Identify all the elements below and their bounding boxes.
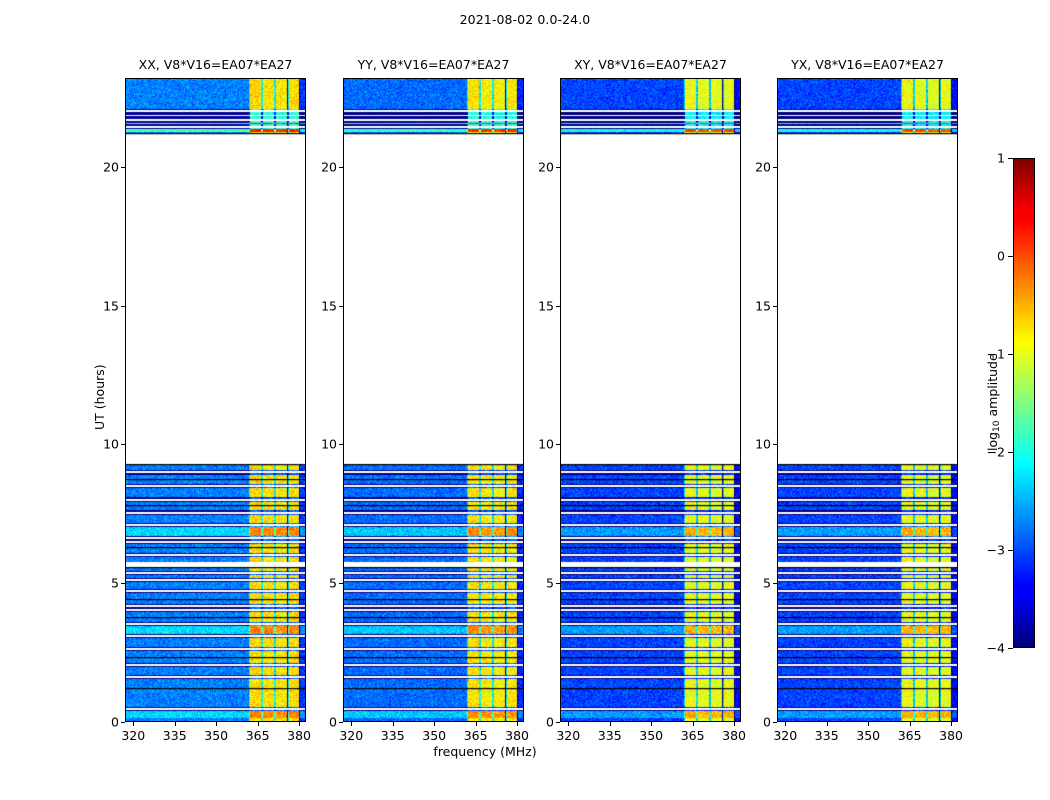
- x-tick-mark: [785, 722, 786, 726]
- y-tick-label: 20: [526, 159, 554, 174]
- x-tick-mark: [133, 722, 134, 726]
- x-tick-mark: [868, 722, 869, 726]
- x-tick-mark: [734, 722, 735, 726]
- y-tick-mark: [556, 722, 560, 723]
- colorbar-tick-mark: [1008, 648, 1013, 649]
- x-tick-label: 350: [422, 728, 446, 743]
- x-tick-label: 380: [287, 728, 311, 743]
- y-tick-label: 5: [91, 576, 119, 591]
- panel-xx-title: XX, V8*V16=EA07*EA27: [139, 57, 293, 72]
- x-tick-label: 335: [381, 728, 405, 743]
- y-tick-label: 15: [743, 298, 771, 313]
- y-tick-label: 5: [309, 576, 337, 591]
- x-tick-label: 380: [939, 728, 963, 743]
- colorbar-label: log10 amplitude: [985, 353, 1002, 451]
- x-tick-mark: [175, 722, 176, 726]
- colorbar-tick-mark: [1008, 354, 1013, 355]
- x-tick-label: 380: [722, 728, 746, 743]
- x-tick-label: 320: [773, 728, 797, 743]
- y-tick-mark: [121, 444, 125, 445]
- y-tick-mark: [121, 167, 125, 168]
- x-tick-mark: [434, 722, 435, 726]
- x-tick-label: 350: [204, 728, 228, 743]
- panel-yy-waterfall: [344, 79, 523, 721]
- x-tick-mark: [476, 722, 477, 726]
- y-tick-label: 10: [526, 437, 554, 452]
- x-tick-label: 320: [556, 728, 580, 743]
- y-tick-mark: [773, 306, 777, 307]
- x-tick-mark: [568, 722, 569, 726]
- panel-xy[interactable]: XY, V8*V16=EA07*EA27: [560, 78, 741, 722]
- y-tick-label: 20: [743, 159, 771, 174]
- x-tick-mark: [351, 722, 352, 726]
- y-tick-mark: [339, 444, 343, 445]
- figure-suptitle: 2021-08-02 0.0-24.0: [0, 12, 1050, 27]
- y-tick-label: 5: [743, 576, 771, 591]
- x-tick-label: 350: [856, 728, 880, 743]
- y-tick-label: 20: [309, 159, 337, 174]
- y-tick-label: 10: [743, 437, 771, 452]
- x-tick-mark: [610, 722, 611, 726]
- x-tick-label: 380: [505, 728, 529, 743]
- colorbar-label-subscript: 10: [992, 420, 1002, 431]
- x-tick-label: 350: [639, 728, 663, 743]
- x-tick-label: 365: [246, 728, 270, 743]
- x-tick-mark: [827, 722, 828, 726]
- colorbar-tick-label: 1: [973, 151, 1005, 166]
- colorbar-tick-mark: [1008, 158, 1013, 159]
- colorbar-tick-mark: [1008, 256, 1013, 257]
- panel-yy-title: YY, V8*V16=EA07*EA27: [358, 57, 510, 72]
- y-tick-label: 15: [309, 298, 337, 313]
- x-tick-label: 335: [163, 728, 187, 743]
- y-tick-label: 10: [309, 437, 337, 452]
- colorbar-label-prefix: log: [985, 432, 1000, 451]
- x-tick-mark: [517, 722, 518, 726]
- colorbar-tick-label: 0: [973, 249, 1005, 264]
- y-tick-label: 0: [743, 715, 771, 730]
- x-tick-mark: [393, 722, 394, 726]
- x-tick-label: 365: [681, 728, 705, 743]
- y-tick-label: 10: [91, 437, 119, 452]
- y-tick-mark: [773, 444, 777, 445]
- y-tick-mark: [773, 167, 777, 168]
- panel-yx[interactable]: YX, V8*V16=EA07*EA27: [777, 78, 958, 722]
- colorbar-gradient: [1014, 159, 1034, 647]
- y-tick-label: 20: [91, 159, 119, 174]
- colorbar-tick-label: −3: [973, 543, 1005, 558]
- panel-xx[interactable]: XX, V8*V16=EA07*EA27: [125, 78, 306, 722]
- y-tick-mark: [339, 167, 343, 168]
- y-tick-label: 15: [526, 298, 554, 313]
- y-tick-label: 0: [526, 715, 554, 730]
- x-tick-label: 335: [815, 728, 839, 743]
- y-tick-label: 15: [91, 298, 119, 313]
- y-tick-mark: [556, 167, 560, 168]
- y-tick-label: 0: [309, 715, 337, 730]
- panel-yy[interactable]: YY, V8*V16=EA07*EA27: [343, 78, 524, 722]
- panel-xx-waterfall: [126, 79, 305, 721]
- y-axis-label: UT (hours): [92, 364, 107, 430]
- y-tick-label: 5: [526, 576, 554, 591]
- y-tick-mark: [339, 722, 343, 723]
- x-tick-mark: [258, 722, 259, 726]
- x-tick-label: 365: [464, 728, 488, 743]
- x-tick-label: 335: [598, 728, 622, 743]
- colorbar-tick-mark: [1008, 452, 1013, 453]
- y-tick-mark: [556, 583, 560, 584]
- y-tick-mark: [339, 583, 343, 584]
- y-tick-mark: [121, 722, 125, 723]
- colorbar-label-suffix: amplitude: [985, 353, 1000, 420]
- y-tick-mark: [773, 722, 777, 723]
- panel-xy-waterfall: [561, 79, 740, 721]
- y-tick-mark: [339, 306, 343, 307]
- panel-yx-waterfall: [778, 79, 957, 721]
- x-tick-label: 320: [339, 728, 363, 743]
- x-tick-mark: [951, 722, 952, 726]
- y-tick-mark: [556, 444, 560, 445]
- colorbar-tick-mark: [1008, 550, 1013, 551]
- y-tick-mark: [556, 306, 560, 307]
- y-tick-mark: [773, 583, 777, 584]
- x-axis-label: frequency (MHz): [433, 744, 536, 759]
- x-tick-label: 320: [121, 728, 145, 743]
- x-tick-label: 365: [898, 728, 922, 743]
- y-tick-mark: [121, 583, 125, 584]
- x-tick-mark: [299, 722, 300, 726]
- x-tick-mark: [216, 722, 217, 726]
- x-tick-mark: [910, 722, 911, 726]
- y-tick-mark: [121, 306, 125, 307]
- y-tick-label: 0: [91, 715, 119, 730]
- colorbar: [1013, 158, 1035, 648]
- colorbar-tick-label: −4: [973, 641, 1005, 656]
- panel-xy-title: XY, V8*V16=EA07*EA27: [574, 57, 727, 72]
- panel-yx-title: YX, V8*V16=EA07*EA27: [791, 57, 944, 72]
- x-tick-mark: [651, 722, 652, 726]
- x-tick-mark: [693, 722, 694, 726]
- figure-canvas: 2021-08-02 0.0-24.0 XX, V8*V16=EA07*EA27…: [0, 0, 1050, 800]
